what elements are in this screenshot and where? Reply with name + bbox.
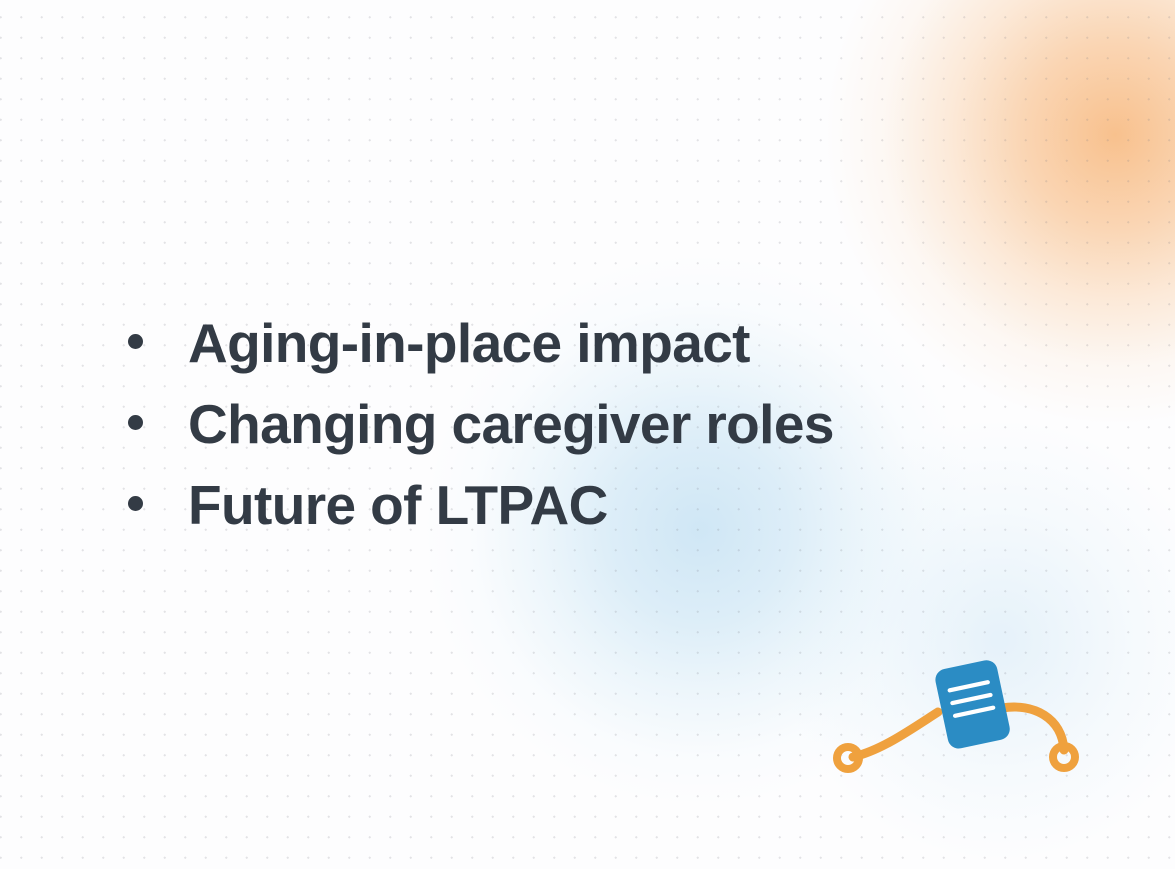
connector-endpoint-right-icon [1053,746,1075,768]
list-item: Changing caregiver roles [128,397,834,478]
document-card-body [933,658,1011,750]
connector-endpoint-left-icon [837,747,859,769]
bullet-dot-icon [128,334,143,349]
bullet-label: Future of LTPAC [188,478,608,533]
list-item: Future of LTPAC [128,478,834,559]
slide-canvas: Aging-in-place impact Changing caregiver… [0,0,1175,869]
bullet-list: Aging-in-place impact Changing caregiver… [128,316,834,559]
connector-left-path [853,712,938,757]
connector-right-path [1002,707,1064,750]
document-node-graphic [812,646,1102,796]
list-item: Aging-in-place impact [128,316,834,397]
bullet-label: Aging-in-place impact [188,316,750,371]
bullet-dot-icon [128,496,143,511]
document-card [933,658,1011,750]
bullet-dot-icon [128,415,143,430]
bullet-label: Changing caregiver roles [188,397,834,452]
